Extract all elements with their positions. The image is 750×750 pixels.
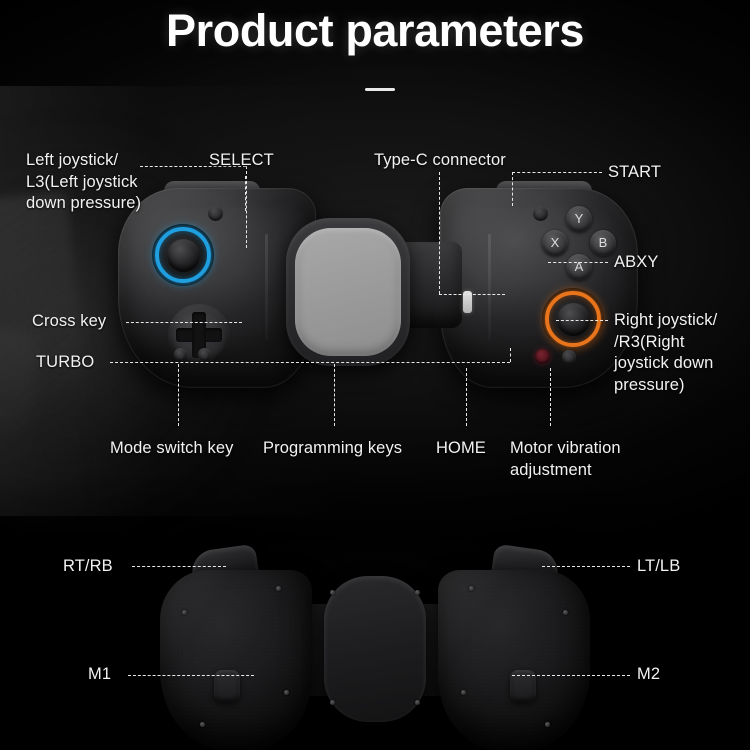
- button-x[interactable]: X: [542, 230, 568, 256]
- leader-abxy: [548, 262, 608, 263]
- leader-rt-rb: [132, 566, 226, 567]
- button-b[interactable]: B: [590, 230, 616, 256]
- page-title: Product parameters: [0, 6, 750, 56]
- select-button[interactable]: [208, 206, 223, 221]
- screw-dot: [469, 586, 474, 591]
- leader-cross-key: [126, 322, 242, 323]
- label-motor-vibration: Motor vibration adjustment: [510, 438, 621, 481]
- leader-right-joystick: [556, 320, 608, 321]
- motor-vibration-button[interactable]: [562, 350, 576, 364]
- label-m1: M1: [88, 664, 111, 686]
- seam-line-right: [488, 234, 491, 340]
- leader-m2: [512, 675, 630, 676]
- home-button[interactable]: [535, 349, 550, 364]
- screw-dot: [563, 610, 568, 615]
- left-joystick[interactable]: [152, 224, 214, 286]
- label-abxy: ABXY: [614, 252, 658, 274]
- back-phone-holder-plate: [324, 576, 426, 722]
- seam-line-left: [265, 234, 268, 340]
- screw-dot: [545, 722, 550, 727]
- label-programming-keys: Programming keys: [263, 438, 402, 460]
- abxy-button-cluster: Y X B A: [542, 206, 616, 280]
- label-right-joystick: Right joystick/ /R3(Right joystick down …: [614, 310, 717, 396]
- leader-start-v: [512, 172, 513, 206]
- back-grip-right: [438, 570, 590, 750]
- screw-dot: [182, 610, 187, 615]
- right-joystick-cap: [557, 303, 590, 336]
- screw-dot: [284, 690, 289, 695]
- label-m2: M2: [637, 664, 660, 686]
- label-turbo: TURBO: [36, 352, 94, 374]
- label-lt-lb: LT/LB: [637, 556, 680, 578]
- label-type-c-connector: Type-C connector: [374, 150, 506, 172]
- controller-front-view: Y X B A: [118, 188, 638, 388]
- label-cross-key: Cross key: [32, 311, 106, 333]
- leader-turbo-riser: [510, 348, 511, 362]
- leader-m1: [128, 675, 254, 676]
- start-button[interactable]: [533, 206, 548, 221]
- screw-dot: [330, 700, 335, 705]
- programming-key[interactable]: [198, 348, 211, 361]
- button-y[interactable]: Y: [566, 206, 592, 232]
- product-parameters-diagram: Product parameters: [0, 0, 750, 750]
- controller-back-view: [152, 548, 598, 750]
- phone-holder-face: [295, 228, 401, 356]
- label-rt-rb: RT/RB: [63, 556, 113, 578]
- leader-select: [245, 176, 246, 211]
- back-grip-highlight-right: [438, 570, 590, 750]
- leader-start-h: [512, 172, 602, 173]
- left-joystick-cap: [167, 239, 200, 272]
- leader-type-c-h: [439, 294, 505, 295]
- leader-lt-lb: [542, 566, 630, 567]
- button-a[interactable]: A: [566, 254, 592, 280]
- mode-switch-key[interactable]: [174, 348, 187, 361]
- back-grip-left: [160, 570, 312, 750]
- leader-programming-keys: [334, 364, 335, 426]
- right-joystick[interactable]: [542, 288, 604, 350]
- screw-dot: [415, 590, 420, 595]
- leader-turbo: [110, 362, 510, 363]
- screw-dot: [276, 586, 281, 591]
- leader-motor-vibration: [550, 368, 551, 426]
- screw-dot: [415, 700, 420, 705]
- back-grip-highlight-left: [160, 570, 312, 750]
- screw-dot: [200, 722, 205, 727]
- label-select: SELECT: [209, 150, 274, 172]
- leader-left-joystick-v: [246, 166, 247, 248]
- label-left-joystick: Left joystick/ L3(Left joystick down pre…: [26, 150, 141, 215]
- leader-home: [466, 368, 467, 426]
- leader-type-c-v: [439, 172, 440, 294]
- label-home: HOME: [436, 438, 486, 460]
- label-start: START: [608, 162, 661, 184]
- screw-dot: [461, 690, 466, 695]
- label-mode-switch-key: Mode switch key: [110, 438, 233, 460]
- leader-mode-switch: [178, 364, 179, 426]
- phone-holder: [286, 218, 410, 366]
- screw-dot: [330, 590, 335, 595]
- title-divider: [365, 88, 395, 91]
